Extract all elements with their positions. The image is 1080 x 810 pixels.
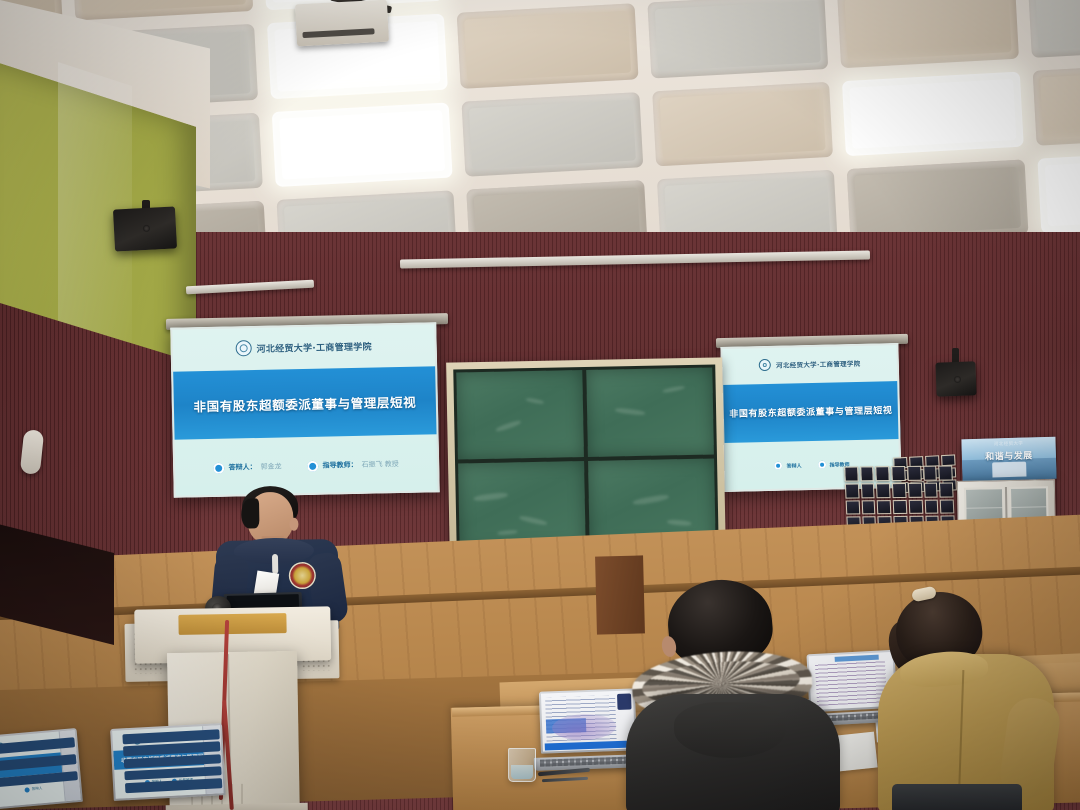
ceiling-screw: [496, 138, 499, 141]
podium-wood-trim: [178, 613, 286, 635]
ceiling-screw: [759, 207, 762, 210]
ceiling-screw: [750, 104, 753, 107]
audience-member-parka: [620, 578, 850, 810]
ceiling-light-panel: [1037, 149, 1080, 232]
ceiling-screw: [342, 64, 345, 67]
foreground-laptop-1-lid: 河北经贸大学·工商管理学院 非国有股东超额委派董事与管理层短视 答辩人 指导教师: [110, 723, 226, 801]
slide-title: 非国有股东超额委派董事与管理层短视: [193, 391, 416, 415]
advisor-label: 指导教师：: [322, 460, 357, 471]
ceiling-panel: [837, 0, 1018, 68]
wall-banner-poster: 河北经贸大学 和谐与发展: [961, 437, 1056, 482]
ceiling-screw: [744, 43, 747, 46]
ceiling-screw: [325, 53, 328, 56]
ceiling-panel: [652, 81, 833, 166]
ceiling-panel: [457, 4, 638, 89]
presenter-label: 答辩人: [786, 462, 801, 469]
slide-title: 非国有股东超额委派董事与管理层短视: [729, 403, 892, 420]
presentation-slide: 河北经贸大学·工商管理学院 非国有股东超额委派董事与管理层短视 答辩人： 郭金龙…: [170, 322, 440, 498]
ceiling-panel: [72, 0, 253, 21]
advisor-credit: 指导教师： 石振飞 教授: [307, 459, 398, 472]
slide-title-band: 非国有股东超额委派董事与管理层短视: [171, 366, 438, 440]
glass-water: [511, 765, 533, 779]
university-logo-icon: [759, 359, 771, 371]
slide-header: 河北经贸大学·工商管理学院: [720, 343, 899, 385]
slide-university-header: 河北经贸大学·工商管理学院: [256, 339, 372, 354]
ceiling-panel: [1032, 61, 1080, 146]
meeting-shared-slide: 河北经贸大学·工商管理学院 非国有股东超额委派董事与管理层短视 答辩人: [0, 730, 81, 808]
presenter-ear: [289, 518, 298, 531]
slide-title-band: 非国有股东超额委派董事与管理层短视: [721, 381, 900, 443]
chalkboard-panes: [453, 365, 718, 554]
presenter-credit: 答辩人： 郭金龙: [213, 461, 281, 473]
teacher-icon: [817, 461, 825, 469]
right-wall-speaker: [935, 361, 976, 396]
presenter-credit: 答辩人: [774, 462, 801, 471]
chalkboard-pane: [586, 368, 714, 457]
foreground-laptop-2-lid: 河北经贸大学·工商管理学院 非国有股东超额委派董事与管理层短视 答辩人: [0, 728, 83, 810]
teacher-icon: [307, 460, 318, 471]
ceiling-screw: [141, 0, 144, 3]
ceiling-panel: [276, 190, 457, 232]
green-chalkboard: [446, 357, 726, 560]
ceiling-screw: [589, 122, 592, 125]
water-glass: [508, 748, 536, 782]
ceiling-screw: [582, 61, 585, 64]
person-icon: [25, 787, 30, 792]
ceiling-screw: [776, 218, 779, 221]
slide-university-header: 河北经贸大学·工商管理学院: [776, 358, 861, 370]
chalkboard-pane: [456, 370, 584, 459]
ceiling-screw: [512, 149, 515, 152]
ceiling-screw: [888, 15, 891, 18]
foreground-laptop-2: 河北经贸大学·工商管理学院 非国有股东超额委派董事与管理层短视 答辩人: [0, 728, 83, 810]
ceiling-panel: [462, 92, 643, 177]
foreground-laptop-1: 河北经贸大学·工商管理学院 非国有股东超额委派董事与管理层短视 答辩人 指导教师: [110, 723, 226, 805]
ceiling-screw: [937, 200, 940, 203]
ceiling-screw: [727, 33, 730, 36]
presenter-hair-side: [241, 498, 260, 528]
audience2-chair: [892, 784, 1022, 810]
ceiling-projector: [295, 0, 389, 46]
banner-building: [992, 462, 1026, 477]
ceiling-screw: [536, 220, 539, 223]
ceiling-screw: [767, 115, 770, 118]
ceiling-screw: [921, 190, 924, 193]
mini-presenter-label: 答辩人: [32, 786, 43, 792]
presenter-name: 郭金龙: [260, 462, 281, 472]
presenter-hood-drawstring: [272, 554, 278, 574]
projector-lens-bar: [302, 28, 374, 38]
main-projection-screen: 河北经贸大学·工商管理学院 非国有股东超额委派董事与管理层短视 答辩人： 郭金龙…: [170, 322, 440, 498]
ceiling-screw: [519, 210, 522, 213]
plaque: [941, 454, 956, 465]
presenter-label: 答辩人：: [228, 462, 256, 473]
ceiling-screw: [897, 118, 900, 121]
slide-footer: 答辩人： 郭金龙 指导教师： 石振飞 教授: [173, 434, 440, 497]
ceiling-panel: [1027, 0, 1080, 57]
ceiling-light-panel: [842, 71, 1023, 156]
ceiling-screw: [365, 135, 368, 138]
ceiling-panel: [647, 0, 828, 78]
banner-line2: 和谐与发展: [962, 448, 1056, 464]
ceiling-screw: [914, 129, 917, 132]
person-icon: [774, 462, 782, 470]
left-wall-speaker: [113, 206, 177, 251]
university-logo-icon: [235, 340, 251, 356]
ceiling-screw: [221, 163, 224, 166]
advisor-name: 石振飞 教授: [361, 459, 398, 470]
ceiling-screw: [793, 228, 796, 231]
ceiling-panel: [467, 180, 648, 232]
lecture-hall-photo: 河北经贸大学·工商管理学院 非国有股东超额委派董事与管理层短视 答辩人： 郭金龙…: [0, 0, 1080, 810]
ceiling-screw: [596, 30, 599, 33]
ceiling-panel: [657, 170, 838, 232]
ceiling-screw: [358, 228, 361, 231]
meeting-shared-slide: 河北经贸大学·工商管理学院 非国有股东超额委派董事与管理层短视 答辩人 指导教师: [112, 725, 223, 799]
ceiling-screw: [881, 108, 884, 111]
mini-presenter-credit: 答辩人: [25, 786, 43, 793]
ceiling-light-panel: [272, 102, 453, 187]
audience-member-camel-coat: [872, 586, 1072, 810]
ceiling-screw: [874, 47, 877, 50]
ceiling-screw: [349, 125, 352, 128]
ceiling-panel: [847, 159, 1028, 232]
ceiling-screw: [710, 23, 713, 26]
foreground-laptop-2-screen: 河北经贸大学·工商管理学院 非国有股东超额委派董事与管理层短视 答辩人: [0, 730, 81, 808]
person-icon: [213, 462, 224, 473]
foreground-laptop-1-screen: 河北经贸大学·工商管理学院 非国有股东超额委派董事与管理层短视 答辩人 指导教师: [112, 725, 223, 799]
audience1-hood-back: [674, 702, 786, 758]
slide-header: 河北经贸大学·工商管理学院: [170, 322, 437, 372]
ceiling-screw: [227, 224, 230, 227]
